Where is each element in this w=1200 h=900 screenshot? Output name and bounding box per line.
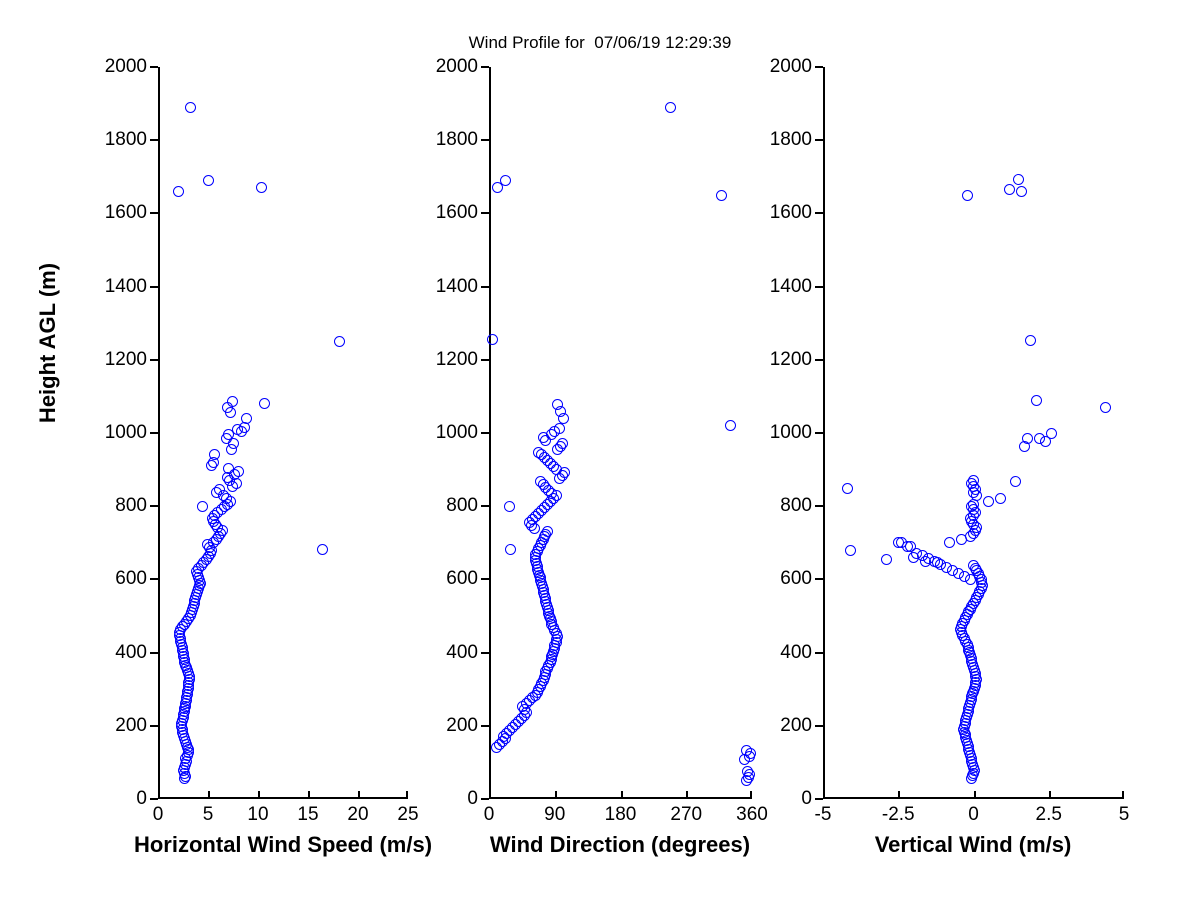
x-axis-tick bbox=[406, 791, 408, 799]
y-axis-tick bbox=[150, 432, 158, 434]
data-point bbox=[1010, 476, 1021, 487]
data-point bbox=[983, 496, 994, 507]
y-axis-tick-label: 800 bbox=[115, 495, 147, 517]
y-axis-tick-label: 1000 bbox=[436, 422, 478, 444]
x-axis-tick-label: 0 bbox=[153, 804, 164, 826]
x-axis-tick-label: 5 bbox=[1119, 804, 1130, 826]
y-axis-tick-label: 2000 bbox=[436, 56, 478, 78]
y-axis-tick bbox=[150, 359, 158, 361]
x-axis-tick bbox=[208, 791, 210, 799]
x-axis-tick-label: -2.5 bbox=[882, 804, 915, 826]
y-axis-tick bbox=[150, 798, 158, 800]
data-point bbox=[232, 424, 243, 435]
data-point bbox=[223, 463, 234, 474]
x-axis-tick bbox=[621, 791, 623, 799]
y-axis-tick bbox=[815, 505, 823, 507]
data-point bbox=[173, 186, 184, 197]
data-point bbox=[905, 541, 916, 552]
y-axis-tick-label: 600 bbox=[446, 568, 478, 590]
y-axis-tick-label: 1000 bbox=[105, 422, 147, 444]
data-point bbox=[1031, 395, 1042, 406]
x-axis-tick bbox=[1049, 791, 1051, 799]
x-axis-tick-label: 0 bbox=[484, 804, 495, 826]
y-axis-tick bbox=[150, 578, 158, 580]
x-axis-tick-label: 20 bbox=[347, 804, 368, 826]
data-point bbox=[334, 336, 345, 347]
y-axis-tick-label: 1800 bbox=[770, 129, 812, 151]
x-axis-tick-label: 270 bbox=[670, 804, 702, 826]
y-axis-tick bbox=[481, 212, 489, 214]
y-axis-tick-label: 1200 bbox=[770, 349, 812, 371]
y-axis-tick-label: 400 bbox=[780, 642, 812, 664]
data-point bbox=[845, 545, 856, 556]
data-point bbox=[557, 438, 568, 449]
data-point bbox=[1013, 174, 1024, 185]
panel-wind-direction: Wind Direction (degrees) 020040060080010… bbox=[489, 67, 752, 799]
y-axis-tick-label: 800 bbox=[446, 495, 478, 517]
data-point bbox=[1016, 186, 1027, 197]
y-axis-tick-label: 2000 bbox=[770, 56, 812, 78]
panel-vertical-wind: Vertical Wind (m/s) 02004006008001000120… bbox=[823, 67, 1124, 799]
x-axis-label-horizontal: Horizontal Wind Speed (m/s) bbox=[134, 832, 432, 858]
x-axis-tick bbox=[823, 791, 825, 799]
y-axis-tick bbox=[815, 212, 823, 214]
data-point bbox=[259, 398, 270, 409]
data-point bbox=[185, 102, 196, 113]
y-axis-tick-label: 1000 bbox=[770, 422, 812, 444]
x-axis-tick bbox=[750, 791, 752, 799]
y-axis-tick bbox=[815, 286, 823, 288]
y-axis-tick bbox=[481, 725, 489, 727]
y-axis-tick bbox=[150, 652, 158, 654]
y-axis-tick bbox=[815, 725, 823, 727]
y-axis-tick bbox=[815, 66, 823, 68]
data-point bbox=[1040, 436, 1051, 447]
data-point bbox=[209, 449, 220, 460]
x-axis-tick bbox=[974, 791, 976, 799]
x-axis-tick-label: 90 bbox=[544, 804, 565, 826]
y-axis-tick-label: 1200 bbox=[436, 349, 478, 371]
y-axis-tick bbox=[815, 578, 823, 580]
y-axis-tick-label: 1200 bbox=[105, 349, 147, 371]
y-axis-tick-label: 1600 bbox=[105, 202, 147, 224]
y-axis-tick-label: 1400 bbox=[105, 276, 147, 298]
data-point bbox=[554, 423, 565, 434]
data-point bbox=[197, 501, 208, 512]
y-axis-tick bbox=[481, 578, 489, 580]
y-axis-tick bbox=[481, 798, 489, 800]
scatter-plot-area-vertical bbox=[823, 67, 1124, 799]
data-point bbox=[487, 334, 498, 345]
y-axis-tick-label: 400 bbox=[446, 642, 478, 664]
x-axis-tick-label: 2.5 bbox=[1036, 804, 1062, 826]
y-axis-tick bbox=[481, 139, 489, 141]
data-point bbox=[241, 413, 252, 424]
data-point bbox=[542, 526, 553, 537]
x-axis-tick bbox=[258, 791, 260, 799]
x-axis-tick-label: 25 bbox=[397, 804, 418, 826]
data-point bbox=[500, 175, 511, 186]
data-point bbox=[504, 501, 515, 512]
data-point bbox=[1100, 402, 1111, 413]
x-axis-label-vertical: Vertical Wind (m/s) bbox=[875, 832, 1072, 858]
y-axis-tick bbox=[481, 505, 489, 507]
data-point bbox=[881, 554, 892, 565]
y-axis-tick bbox=[815, 139, 823, 141]
y-axis-tick-label: 1800 bbox=[436, 129, 478, 151]
x-axis-label-direction: Wind Direction (degrees) bbox=[490, 832, 750, 858]
y-axis-tick bbox=[481, 432, 489, 434]
y-axis-tick-label: 1400 bbox=[436, 276, 478, 298]
y-axis-tick-label: 600 bbox=[115, 568, 147, 590]
x-axis-tick-label: 15 bbox=[297, 804, 318, 826]
data-point bbox=[995, 493, 1006, 504]
data-point bbox=[968, 475, 979, 486]
data-point bbox=[227, 396, 238, 407]
y-axis-tick bbox=[150, 725, 158, 727]
x-axis-tick-label: 180 bbox=[605, 804, 637, 826]
y-axis-tick-label: 200 bbox=[115, 715, 147, 737]
x-axis-tick bbox=[308, 791, 310, 799]
y-axis-tick-label: 800 bbox=[780, 495, 812, 517]
y-axis-tick bbox=[150, 286, 158, 288]
data-point bbox=[725, 420, 736, 431]
x-axis-tick bbox=[489, 791, 491, 799]
y-axis-tick-label: 400 bbox=[115, 642, 147, 664]
y-axis-tick-label: 2000 bbox=[105, 56, 147, 78]
data-point bbox=[968, 560, 979, 571]
x-axis-tick bbox=[686, 791, 688, 799]
y-axis-tick bbox=[481, 66, 489, 68]
data-point bbox=[535, 476, 546, 487]
y-axis-tick bbox=[150, 66, 158, 68]
x-axis-tick bbox=[358, 791, 360, 799]
data-point bbox=[920, 556, 931, 567]
y-axis-tick-label: 0 bbox=[801, 788, 812, 810]
y-axis-tick bbox=[150, 505, 158, 507]
data-point bbox=[256, 182, 267, 193]
data-point bbox=[533, 447, 544, 458]
data-point bbox=[317, 544, 328, 555]
x-axis-tick-label: 5 bbox=[203, 804, 214, 826]
x-axis-tick bbox=[898, 791, 900, 799]
data-point bbox=[944, 537, 955, 548]
x-axis-tick-label: -5 bbox=[815, 804, 832, 826]
y-axis-tick bbox=[150, 139, 158, 141]
data-point bbox=[1004, 184, 1015, 195]
y-axis-tick bbox=[481, 359, 489, 361]
data-point bbox=[214, 484, 225, 495]
y-axis-tick bbox=[150, 212, 158, 214]
data-point bbox=[842, 483, 853, 494]
x-axis-tick bbox=[555, 791, 557, 799]
y-axis-tick-label: 200 bbox=[780, 715, 812, 737]
y-axis-tick-label: 0 bbox=[136, 788, 147, 810]
y-axis-label: Height AGL (m) bbox=[35, 233, 61, 453]
y-axis-tick-label: 1800 bbox=[105, 129, 147, 151]
data-point bbox=[962, 190, 973, 201]
x-axis-tick-label: 0 bbox=[968, 804, 979, 826]
y-axis-tick bbox=[481, 652, 489, 654]
y-axis-tick bbox=[815, 652, 823, 654]
scatter-plot-area-direction bbox=[489, 67, 752, 799]
y-axis-tick-label: 1600 bbox=[770, 202, 812, 224]
y-axis-tick-label: 0 bbox=[467, 788, 478, 810]
y-axis-tick-label: 1400 bbox=[770, 276, 812, 298]
y-axis-tick-label: 1600 bbox=[436, 202, 478, 224]
y-axis-tick bbox=[815, 359, 823, 361]
wind-profile-figure: Wind Profile for 07/06/19 12:29:39 Heigh… bbox=[0, 0, 1200, 900]
data-point bbox=[233, 466, 244, 477]
figure-title: Wind Profile for 07/06/19 12:29:39 bbox=[0, 33, 1200, 53]
x-axis-tick-label: 10 bbox=[247, 804, 268, 826]
y-axis-tick bbox=[481, 286, 489, 288]
y-axis-tick bbox=[815, 798, 823, 800]
y-axis-tick-label: 200 bbox=[446, 715, 478, 737]
data-point bbox=[505, 544, 516, 555]
data-point bbox=[1022, 433, 1033, 444]
data-point bbox=[1025, 335, 1036, 346]
data-point bbox=[716, 190, 727, 201]
x-axis-tick-label: 360 bbox=[736, 804, 768, 826]
data-point bbox=[203, 175, 214, 186]
panel-horizontal-wind-speed: Horizontal Wind Speed (m/s) 020040060080… bbox=[158, 67, 408, 799]
y-axis-tick bbox=[815, 432, 823, 434]
data-point bbox=[665, 102, 676, 113]
y-axis-tick-label: 600 bbox=[780, 568, 812, 590]
data-point bbox=[908, 552, 919, 563]
scatter-plot-area-horizontal bbox=[158, 67, 408, 799]
x-axis-tick bbox=[158, 791, 160, 799]
x-axis-tick bbox=[1122, 791, 1124, 799]
